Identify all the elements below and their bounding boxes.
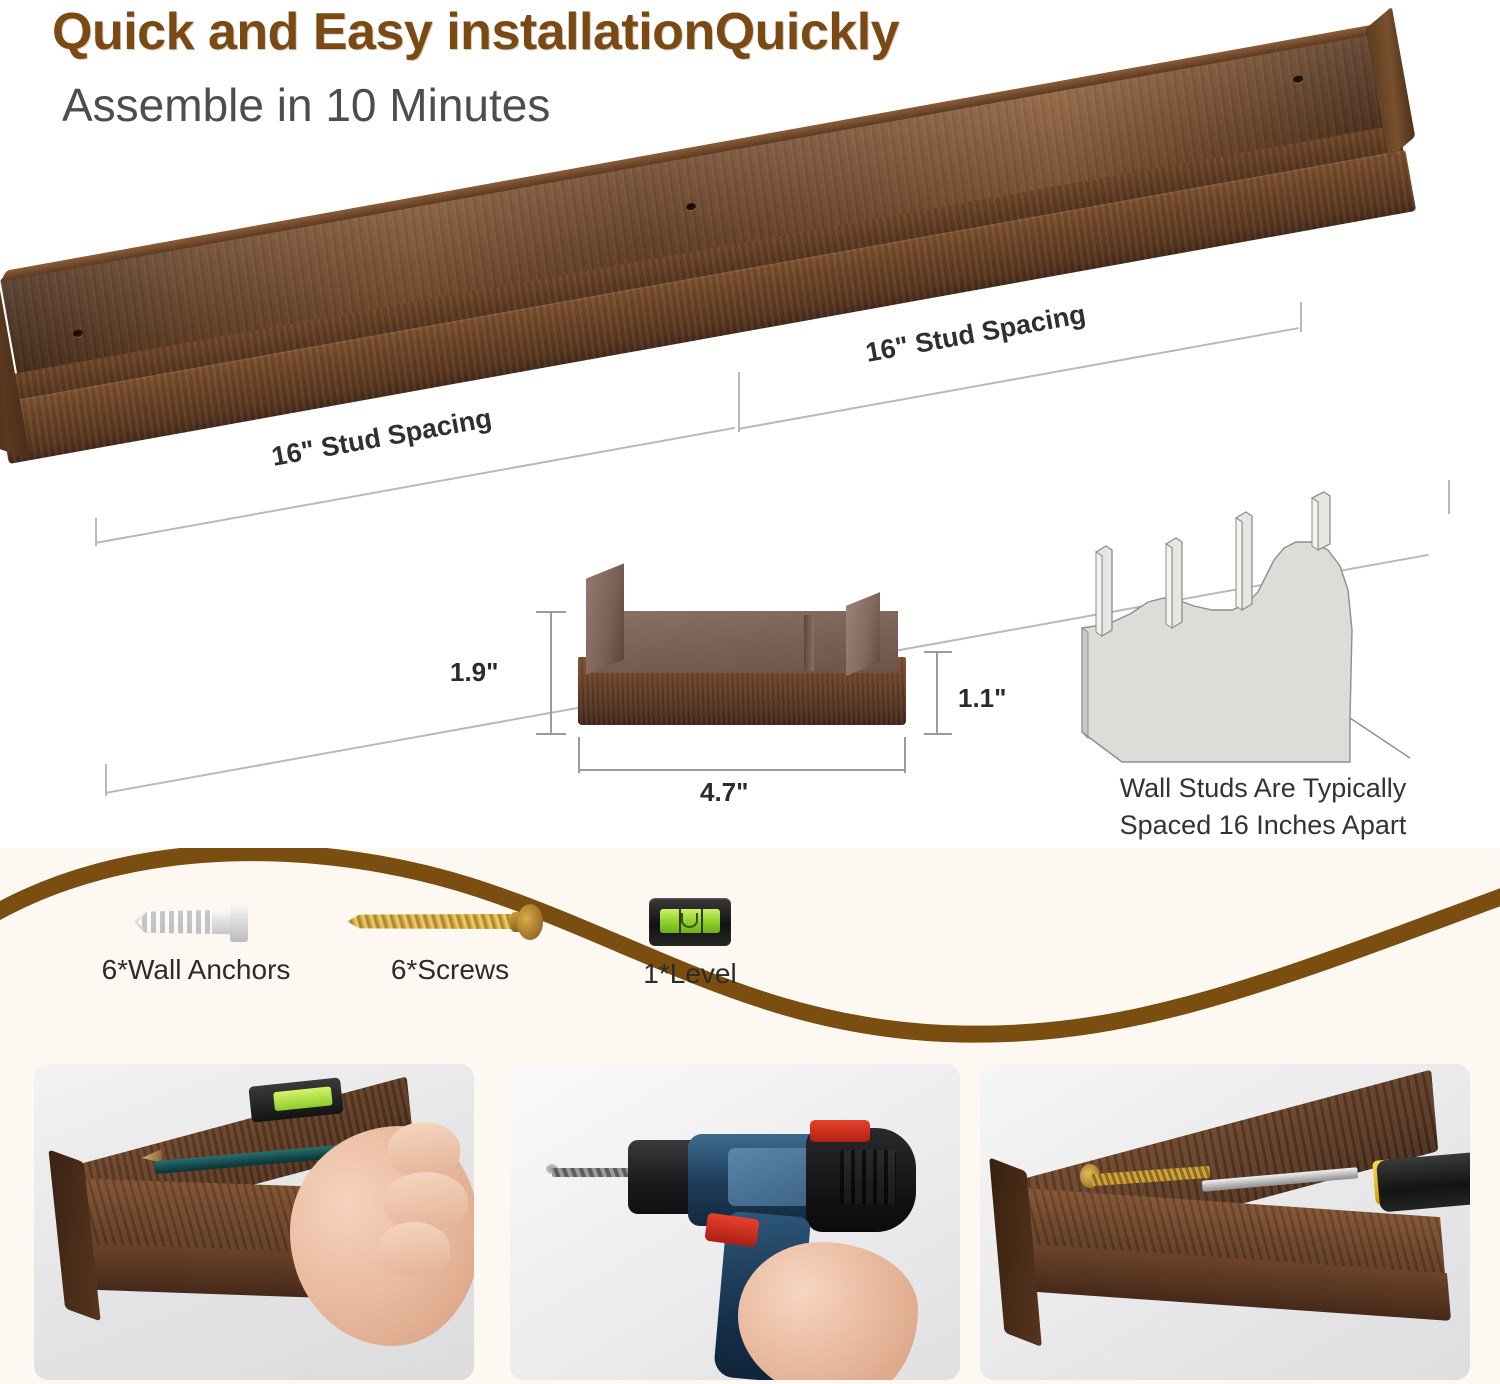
hardware-items: 6*Wall Anchors 6*Screws 1*Level [0, 900, 1000, 1050]
photo1-level-vial [273, 1086, 333, 1111]
page-title: Quick and Easy installationQuickly [52, 2, 899, 62]
screws-label: 6*Screws [310, 954, 590, 986]
photo1-finger-2 [384, 1172, 468, 1230]
level-label: 1*Level [580, 958, 800, 990]
dim-tick-height-top [536, 611, 566, 613]
bubble-level-icon [635, 896, 745, 948]
mark-holes-photo [34, 1064, 474, 1380]
dim-tick-lip-bottom [924, 733, 952, 735]
wall-stud-caption-line1: Wall Studs Are Typically [1068, 770, 1458, 807]
dim-tick-mid [738, 372, 740, 432]
dim-line-lip-height [936, 651, 938, 735]
photo3-screwdriver-handle [1376, 1151, 1470, 1212]
profile-groove [804, 615, 814, 671]
photo2-drill-accent-top [810, 1120, 870, 1142]
photo2-drill-bit [552, 1168, 634, 1177]
installation-steps-strip [0, 1048, 1500, 1384]
profile-shape [578, 605, 906, 725]
level-mark-right [701, 909, 703, 933]
wall-stud-caption-line2: Spaced 16 Inches Apart [1068, 807, 1458, 844]
dim-tick-left-start [95, 518, 97, 546]
drill-wall-photo [510, 1064, 960, 1380]
dim-tick-total-start [105, 764, 107, 796]
dim-tick-height-bottom [536, 733, 566, 735]
screw-icon [335, 900, 565, 944]
wall-stud-caption: Wall Studs Are Typically Spaced 16 Inche… [1068, 770, 1458, 845]
anchor-ribs [138, 909, 212, 935]
photo1-finger-1 [388, 1122, 460, 1176]
anchor-flange [230, 902, 248, 942]
screw-shaft [347, 914, 525, 929]
dim-line-right-16 [738, 327, 1299, 430]
hardware-item-screws: 6*Screws [310, 900, 590, 986]
level-bubble [681, 913, 698, 928]
depth-label: 4.7" [700, 777, 748, 808]
page-subtitle: Assemble in 10 Minutes [62, 78, 550, 132]
hardware-item-wall-anchors: 6*Wall Anchors [46, 900, 346, 986]
hardware-item-level: 1*Level [580, 896, 800, 990]
wall-anchors-label: 6*Wall Anchors [46, 954, 346, 986]
photo1-finger-3 [378, 1222, 450, 1276]
wall-anchor-icon [126, 900, 266, 944]
photo3-shelf [994, 1107, 1450, 1345]
dim-line-height [550, 611, 552, 735]
dim-tick-lip-top [924, 651, 952, 653]
photo2-drill-vents [840, 1150, 896, 1204]
screw-head [517, 904, 543, 940]
profile-lip-wall [846, 592, 880, 676]
dim-tick-depth-left [578, 737, 580, 773]
profile-back-wall [586, 563, 624, 674]
dim-line-depth [578, 769, 906, 771]
photo2-hand [738, 1242, 918, 1380]
lip-height-label: 1.1" [958, 683, 1006, 714]
shelf-cross-section-diagram: 1.9" 1.1" 4.7" [560, 565, 920, 745]
dim-tick-right-end [1300, 302, 1302, 332]
dim-tick-depth-right [904, 737, 906, 773]
fasten-screw-photo [980, 1064, 1470, 1380]
height-label: 1.9" [450, 657, 498, 688]
infographic-canvas: Quick and Easy installationQuickly Assem… [0, 0, 1500, 1384]
